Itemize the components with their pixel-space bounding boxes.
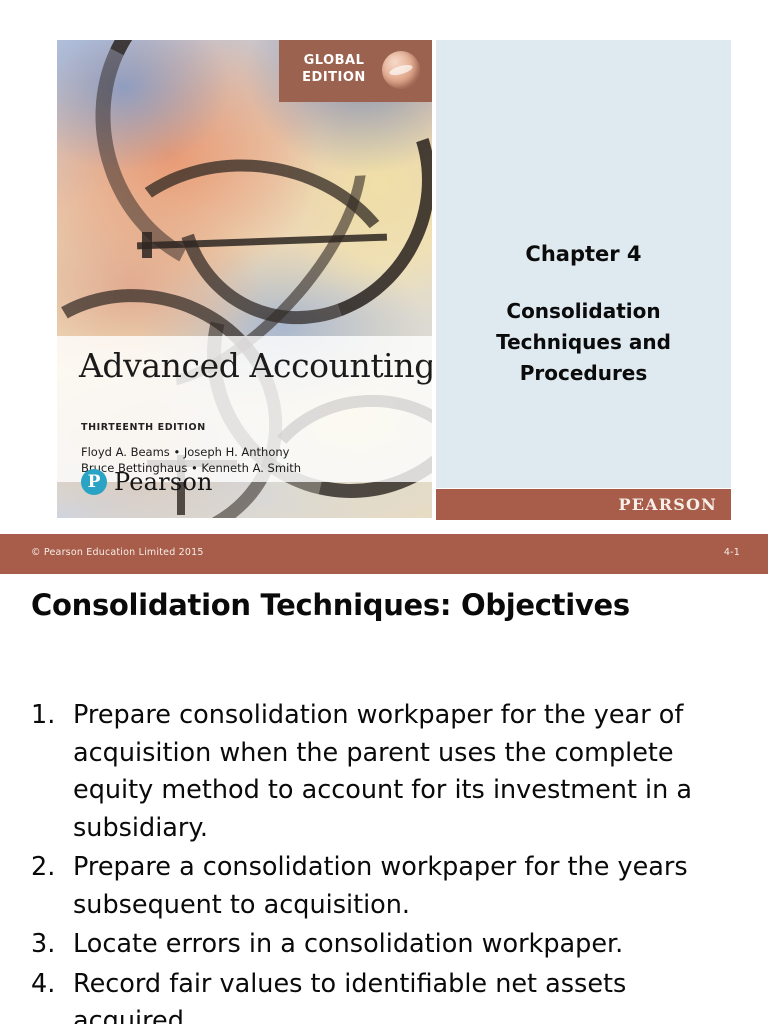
title-slide: GLOBAL EDITION Advanced Accounting THIRT…	[0, 0, 768, 575]
objective-number: 3.	[31, 926, 73, 964]
chapter-number-label: Chapter 4	[436, 242, 731, 266]
page-title: Consolidation Techniques: Objectives	[31, 586, 731, 624]
objective-item: 3.Locate errors in a consolidation workp…	[31, 926, 741, 964]
objective-text: Prepare consolidation workpaper for the …	[73, 697, 741, 847]
objective-item: 1.Prepare consolidation workpaper for th…	[31, 697, 741, 847]
copyright-notice: © Pearson Education Limited 2015	[31, 547, 204, 558]
objectives-list: 1.Prepare consolidation workpaper for th…	[31, 697, 741, 1024]
slide-footer-bar: © Pearson Education Limited 2015 4-1	[0, 534, 768, 574]
pearson-logo-text: Pearson	[114, 468, 213, 496]
pearson-brand-text: PEARSON	[619, 495, 717, 514]
objective-text: Record fair values to identifiable net a…	[73, 966, 741, 1024]
pearson-logo: Pearson	[81, 468, 213, 496]
objective-number: 2.	[31, 849, 73, 887]
objective-text: Locate errors in a consolidation workpap…	[73, 926, 741, 964]
globe-icon	[382, 51, 420, 89]
slide-page-number: 4-1	[724, 547, 740, 558]
chapter-title: Consolidation Techniques and Procedures	[450, 296, 717, 389]
global-edition-banner: GLOBAL EDITION	[279, 40, 432, 102]
objective-item: 4.Record fair values to identifiable net…	[31, 966, 741, 1024]
book-cover-image: GLOBAL EDITION Advanced Accounting THIRT…	[57, 40, 432, 518]
objective-text: Prepare a consolidation workpaper for th…	[73, 849, 741, 924]
objective-item: 2.Prepare a consolidation workpaper for …	[31, 849, 741, 924]
book-edition-label: THIRTEENTH EDITION	[81, 422, 206, 433]
pearson-brand-bar: PEARSON	[436, 489, 731, 520]
pearson-p-icon	[81, 469, 107, 495]
global-edition-label: GLOBAL EDITION	[291, 52, 377, 86]
brush-stroke-decor	[142, 232, 152, 258]
objective-number: 1.	[31, 697, 73, 735]
objectives-slide: Consolidation Techniques: Objectives 1.P…	[0, 575, 768, 1024]
objective-number: 4.	[31, 966, 73, 1004]
chapter-panel: Chapter 4 Consolidation Techniques and P…	[436, 40, 731, 488]
book-title: Advanced Accounting	[79, 346, 432, 385]
